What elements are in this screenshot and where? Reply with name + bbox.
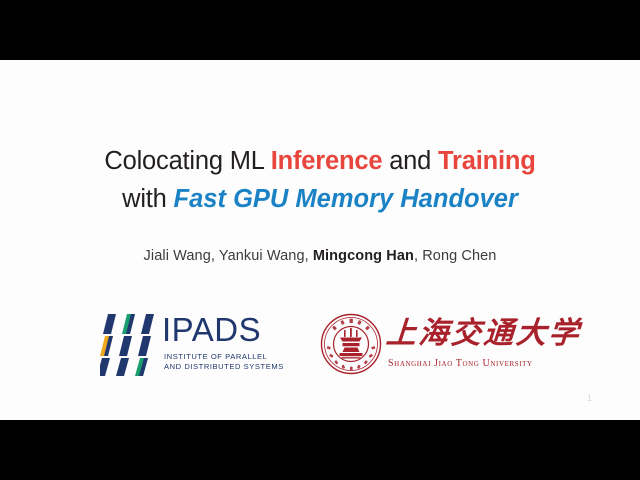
title-segment-colocating: Colocating ML xyxy=(104,147,270,175)
ipads-wordmark: IPADS xyxy=(162,310,261,350)
author-list: Jiali Wang, Yankui Wang, Mingcong Han, R… xyxy=(0,248,640,264)
authors-suffix: , Rong Chen xyxy=(414,248,497,264)
title-segment-with: with xyxy=(122,185,173,213)
ipads-logo: IPADS INSTITUTE OF PARALLEL AND DISTRIBU… xyxy=(100,310,300,386)
title-line-1: Colocating ML Inference and Training xyxy=(0,142,640,180)
title-segment-fast-gpu-memory-handover: Fast GPU Memory Handover xyxy=(174,185,518,213)
authors-prefix: Jiali Wang, Yankui Wang, xyxy=(144,248,313,264)
title-segment-and: and xyxy=(382,147,438,175)
author-presenter: Mingcong Han xyxy=(313,248,414,264)
letterbox-bottom-bar xyxy=(0,420,640,480)
title-segment-inference: Inference xyxy=(271,147,383,175)
presentation-slide: Colocating ML Inference and Training wit… xyxy=(0,60,640,420)
slide-title: Colocating ML Inference and Training wit… xyxy=(0,142,640,218)
affiliation-logo-strip: IPADS INSTITUTE OF PARALLEL AND DISTRIBU… xyxy=(0,304,640,390)
video-frame: Colocating ML Inference and Training wit… xyxy=(0,0,640,480)
slide-page-number: 1 xyxy=(587,393,592,403)
ipads-slashes-icon xyxy=(100,312,162,378)
title-line-2: with Fast GPU Memory Handover xyxy=(0,180,640,218)
letterbox-top-bar xyxy=(0,0,640,60)
sjtu-chinese-name: 上海交通大学 xyxy=(385,314,583,354)
sjtu-english-name: Shanghai Jiao Tong University xyxy=(388,358,533,370)
ipads-tagline-line-1: INSTITUTE OF PARALLEL xyxy=(164,352,267,362)
ipads-tagline-line-2: AND DISTRIBUTED SYSTEMS xyxy=(164,362,284,372)
sjtu-logo: 上海交通大学 Shanghai Jiao Tong University xyxy=(320,310,550,386)
sjtu-seal-icon xyxy=(320,313,382,375)
title-segment-training: Training xyxy=(438,147,536,175)
